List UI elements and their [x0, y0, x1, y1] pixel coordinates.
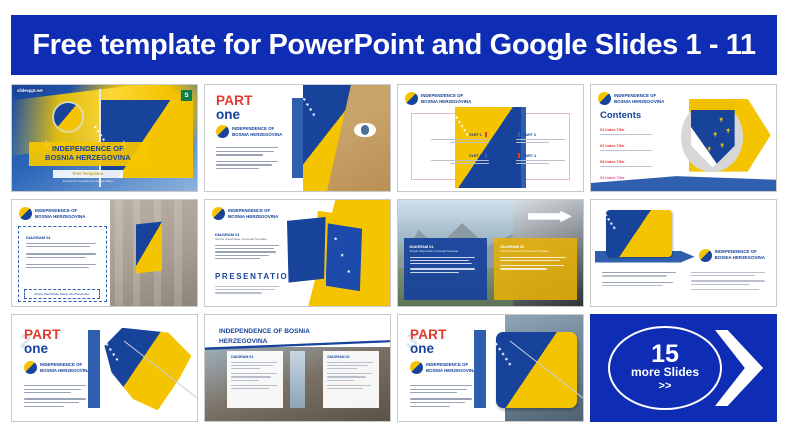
right-text-block	[691, 272, 765, 290]
panel-left-subtitle: Simple Placeholder Universal Template	[410, 249, 481, 253]
slides-preview-page: Free template for PowerPoint and Google …	[0, 0, 788, 447]
text-panel-left: DIAGRAM 01	[227, 351, 283, 408]
slide-thumbnail-9[interactable]: 2 PART one INDEPENDENCE OF BOSNIA HERZEG…	[11, 314, 198, 422]
face-paint-flag	[303, 85, 367, 191]
contents-item-1-title: 01 Index Title	[600, 127, 625, 132]
diagram-subheading: Simple placeholder Universal Template	[215, 237, 279, 241]
brand-logo: INDEPENDENCE OF BOSNIA HERZEGOVINA	[212, 207, 278, 220]
watermark: slidesppt.net	[15, 88, 45, 93]
flag-graphic	[455, 107, 525, 188]
panel-right-subtitle: Simple Placeholder Universal Template	[500, 249, 571, 253]
brand-logo: INDEPENDENCE OF BOSNIA HERZEGOVINA	[598, 92, 664, 105]
part-number: one	[410, 342, 447, 356]
slide-title-line-2: HERZEGOVINA	[219, 338, 267, 345]
contents-item-2: 02 Index Title	[600, 143, 652, 151]
brand-line-1: INDEPENDENCE OF	[40, 362, 82, 367]
brand-line-2: BOSNIA HERZEGOVINA	[715, 255, 765, 260]
brand-text: INDEPENDENCE OF BOSNIA HERZEGOVINA	[715, 249, 765, 261]
credit-text: PowerPoint Template And Google Slides	[53, 179, 123, 183]
body-text-block: DIAGRAM 01	[19, 227, 106, 268]
contents-item-1: 01 Index Title	[600, 127, 652, 135]
brand-line-1: INDEPENDENCE OF	[426, 362, 468, 367]
cta-circle: 15 more Slides >>	[608, 326, 723, 411]
diagram-heading: DIAGRAM 01	[26, 235, 99, 240]
part-item-4: PART 4	[516, 153, 572, 164]
part-item-2-label: PART 2	[469, 154, 482, 158]
flag-edge	[521, 107, 526, 188]
slides-badge-icon: S	[181, 90, 192, 101]
slide-thumbnail-5[interactable]: INDEPENDENCE OF BOSNIA HERZEGOVINA DIAGR…	[11, 199, 198, 307]
brand-line-2: BOSNIA HERZEGOVINA	[228, 214, 278, 219]
footer-text-block	[215, 286, 279, 294]
slide-thumbnail-4[interactable]: INDEPENDENCE OF BOSNIA HERZEGOVINA Conte…	[590, 84, 777, 192]
brand-text: INDEPENDENCE OF BOSNIA HERZEGOVINA	[614, 93, 664, 105]
flag-circle-icon	[405, 92, 418, 105]
part-number: one	[24, 342, 61, 356]
brand-line-2: BOSNIA HERZEGOVINA	[421, 99, 471, 104]
contents-heading: Contents	[600, 110, 641, 121]
center-photo-strip	[290, 351, 305, 408]
slide-title-line-1: INDEPENDENCE OF BOSNIA	[219, 328, 310, 335]
panel-left-title: DIAGRAM 01	[231, 355, 279, 359]
left-text-block	[602, 272, 676, 286]
flag-circle-icon	[216, 125, 229, 138]
free-templates-ribbon: Free Templates	[53, 170, 123, 178]
flag-circle-icon	[24, 361, 37, 374]
brand-logo: INDEPENDENCE OF BOSNIA HERZEGOVINA	[699, 249, 765, 262]
part-item-4-label: PART 4	[523, 154, 536, 158]
building-photo	[110, 200, 197, 306]
header-banner: Free template for PowerPoint and Google …	[11, 15, 777, 75]
brand-line-2: BOSNIA HERZEGOVINA	[426, 368, 476, 373]
brand-line-2: BOSNIA HERZEGOVINA	[35, 214, 85, 219]
part-number: one	[216, 108, 301, 122]
flag-circle-icon	[598, 92, 611, 105]
brand-line-1: INDEPENDENCE OF	[421, 93, 463, 98]
brand-line-1: INDEPENDENCE OF	[232, 126, 274, 131]
eye-detail	[354, 123, 377, 137]
page-title: Free template for PowerPoint and Google …	[32, 29, 755, 62]
text-panel-right: DIAGRAM 02	[323, 351, 379, 408]
chevron-text-icon: >>	[659, 380, 672, 393]
part-label: PART	[216, 95, 301, 108]
part-item-1: PART 1	[415, 132, 489, 143]
brand-text: INDEPENDENCE OF BOSNIA HERZEGOVINA	[426, 362, 476, 374]
placeholder-caption: Simple Placeholder Delete this Placehold…	[24, 289, 100, 299]
contents-item-4-title: 04 Index Title	[600, 175, 625, 180]
brand-text: INDEPENDENCE OF BOSNIA HERZEGOVINA	[232, 126, 282, 138]
part-item-2: PART 2	[415, 153, 489, 164]
presentation-title: PRESENTATION	[215, 272, 296, 281]
brand-line-1: INDEPENDENCE OF	[228, 208, 270, 213]
slide-thumbnail-3[interactable]: INDEPENDENCE OF BOSNIA HERZEGOVINA PART …	[397, 84, 584, 192]
contents-item-3: 03 Index Title	[600, 159, 652, 167]
brand-text: INDEPENDENCE OF BOSNIA HERZEGOVINA	[421, 93, 471, 105]
brand-text: INDEPENDENCE OF BOSNIA HERZEGOVINA	[228, 208, 278, 220]
slide-title: INDEPENDENCE OF BOSNIA HERZEGOVINA	[219, 327, 310, 347]
brand-logo: INDEPENDENCE OF BOSNIA HERZEGOVINA	[24, 361, 90, 374]
brand-logo: INDEPENDENCE OF BOSNIA HERZEGOVINA	[216, 125, 282, 138]
slide-thumbnail-1[interactable]: INDEPENDENCE OF BOSNIA HERZEGOVINA Free …	[11, 84, 198, 192]
title-box: INDEPENDENCE OF BOSNIA HERZEGOVINA	[29, 142, 147, 166]
flag-circle-icon	[212, 207, 225, 220]
slide-thumbnail-8[interactable]: INDEPENDENCE OF BOSNIA HERZEGOVINA	[590, 199, 777, 307]
slide-thumbnail-grid: INDEPENDENCE OF BOSNIA HERZEGOVINA Free …	[11, 84, 777, 422]
face-photo	[303, 85, 390, 191]
panel-right-title: DIAGRAM 02	[327, 355, 375, 359]
slide-count-label: more Slides	[631, 366, 699, 379]
body-text-block	[410, 385, 472, 407]
slide-thumbnail-6[interactable]: INDEPENDENCE OF BOSNIA HERZEGOVINA DIAGR…	[204, 199, 391, 307]
brand-logo: INDEPENDENCE OF BOSNIA HERZEGOVINA	[405, 92, 471, 105]
body-text-block	[216, 147, 278, 169]
flag-circle-icon	[410, 361, 423, 374]
slide-thumbnail-11[interactable]: 3 PART one INDEPENDENCE OF BOSNIA HERZEG…	[397, 314, 584, 422]
brand-line-2: BOSNIA HERZEGOVINA	[614, 99, 664, 104]
brand-logo: INDEPENDENCE OF BOSNIA HERZEGOVINA	[19, 207, 85, 220]
brand-line-1: INDEPENDENCE OF	[614, 93, 656, 98]
brand-text: INDEPENDENCE OF BOSNIA HERZEGOVINA	[40, 362, 90, 374]
part-item-3-label: PART 3	[523, 133, 536, 137]
more-slides-cta[interactable]: 15 more Slides >>	[590, 314, 777, 422]
chevron-right-icon	[715, 330, 763, 406]
flag-graphic	[101, 100, 194, 178]
info-panel-right: DIAGRAM 02 Simple Placeholder Universal …	[494, 238, 577, 299]
brand-text: INDEPENDENCE OF BOSNIA HERZEGOVINA	[35, 208, 85, 220]
slide-thumbnail-2[interactable]: PART one INDEPENDENCE OF BOSNIA HERZEGOV…	[204, 84, 391, 192]
flag-stars	[606, 213, 618, 231]
flag-circle-icon	[19, 207, 32, 220]
part-label: PART	[410, 329, 447, 342]
text-column: PART one INDEPENDENCE OF BOSNIA HERZEGOV…	[205, 85, 301, 191]
brand-line-1: INDEPENDENCE OF	[715, 249, 757, 254]
title-line-2: BOSNIA HERZEGOVINA	[34, 154, 142, 163]
coat-of-arms-seal	[53, 102, 83, 132]
contents-item-2-title: 02 Index Title	[600, 143, 625, 148]
body-text-block	[24, 385, 86, 407]
slide-thumbnail-10[interactable]: INDEPENDENCE OF BOSNIA HERZEGOVINA DIAGR…	[204, 314, 391, 422]
brand-line-2: BOSNIA HERZEGOVINA	[40, 368, 90, 373]
slide-count: 15	[651, 343, 679, 366]
flag-circle-icon	[699, 249, 712, 262]
slide-thumbnail-7[interactable]: DIAGRAM 01 Simple Placeholder Universal …	[397, 199, 584, 307]
part-item-1-label: PART 1	[469, 133, 482, 137]
body-text-block: DIAGRAM 01 Simple placeholder Universal …	[215, 232, 279, 259]
flag-graphic	[136, 222, 162, 273]
brand-line-2: BOSNIA HERZEGOVINA	[232, 132, 282, 137]
brand-logo: INDEPENDENCE OF BOSNIA HERZEGOVINA	[410, 361, 476, 374]
flag-card	[606, 210, 673, 258]
info-panel-left: DIAGRAM 01 Simple Placeholder Universal …	[404, 238, 487, 299]
waving-flag-graphic	[283, 200, 390, 306]
coat-of-arms-graphic	[669, 91, 769, 182]
part-label: PART	[24, 329, 61, 342]
flag-blue-band-2	[326, 223, 362, 291]
brand-line-1: INDEPENDENCE OF	[35, 208, 77, 213]
part-item-3: PART 3	[516, 132, 572, 143]
contents-item-3-title: 03 Index Title	[600, 159, 625, 164]
